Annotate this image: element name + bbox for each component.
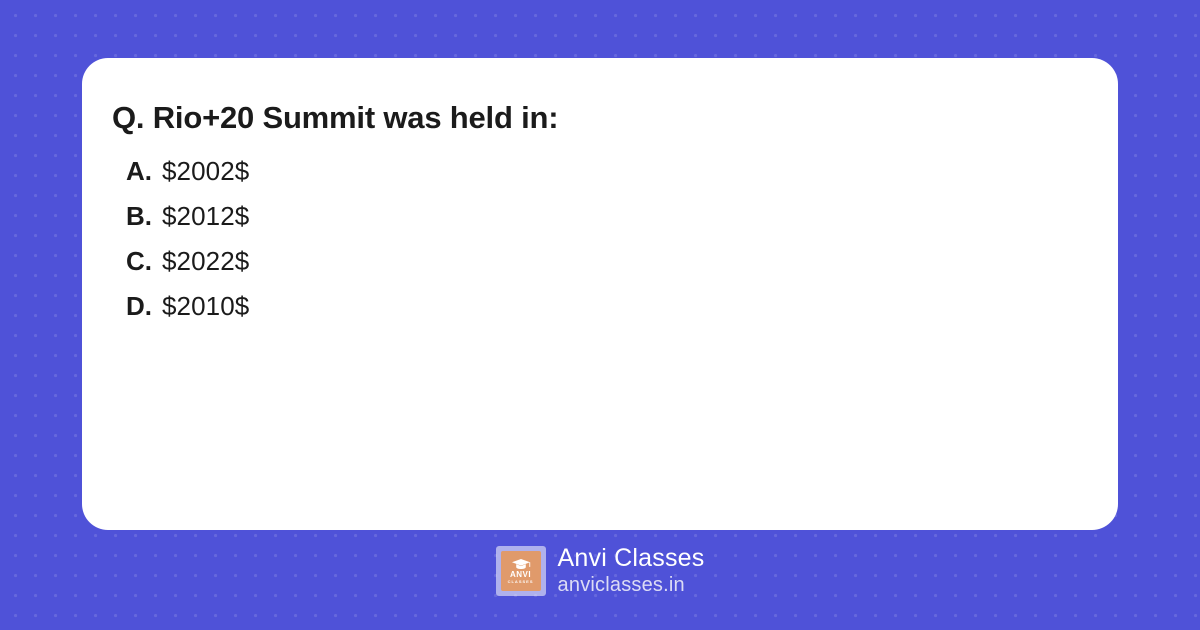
brand-logo-tile: ANVI CLASSES [501, 551, 541, 591]
option-d-value: $2010$ [162, 291, 249, 322]
footer-branding: ANVI CLASSES Anvi Classes anviclasses.in [0, 544, 1200, 598]
option-b[interactable]: B. $2012$ [126, 201, 1088, 246]
option-a[interactable]: A. $2002$ [126, 156, 1088, 201]
brand-text-block: Anvi Classes anviclasses.in [558, 544, 705, 598]
option-c[interactable]: C. $2022$ [126, 246, 1088, 291]
slide-canvas: Q. Rio+20 Summit was held in: A. $2002$ … [0, 0, 1200, 630]
brand-url[interactable]: anviclasses.in [558, 572, 705, 598]
option-a-letter: A. [126, 156, 162, 187]
option-c-letter: C. [126, 246, 162, 277]
options-list: A. $2002$ B. $2012$ C. $2022$ D. $2010$ [126, 156, 1088, 336]
brand-logo-sub: CLASSES [508, 580, 534, 584]
brand-name: Anvi Classes [558, 544, 705, 572]
option-d-letter: D. [126, 291, 162, 322]
option-b-value: $2012$ [162, 201, 249, 232]
option-c-value: $2022$ [162, 246, 249, 277]
brand-logo-word: ANVI [510, 571, 531, 579]
graduation-cap-icon [511, 558, 531, 570]
question-text: Q. Rio+20 Summit was held in: [112, 100, 1088, 136]
option-a-value: $2002$ [162, 156, 249, 187]
question-card: Q. Rio+20 Summit was held in: A. $2002$ … [82, 58, 1118, 530]
brand-block[interactable]: ANVI CLASSES Anvi Classes anviclasses.in [496, 544, 705, 598]
option-b-letter: B. [126, 201, 162, 232]
option-d[interactable]: D. $2010$ [126, 291, 1088, 336]
brand-logo: ANVI CLASSES [496, 546, 546, 596]
